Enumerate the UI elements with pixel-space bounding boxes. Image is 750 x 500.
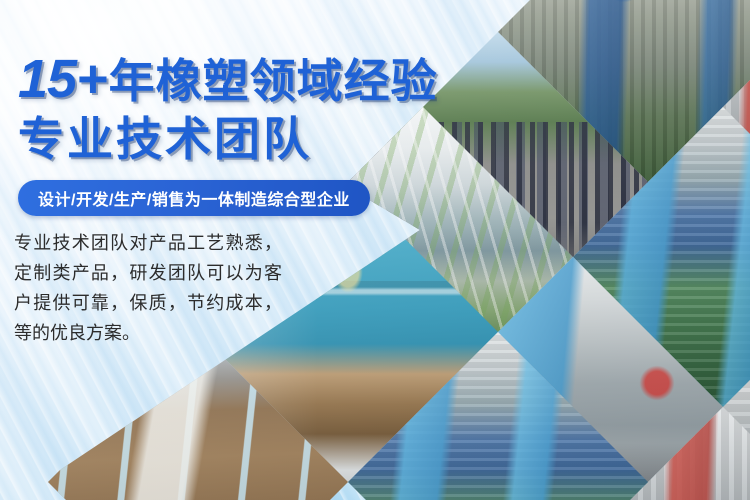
headline-primary: 15+年橡塑领域经验 [18, 52, 438, 108]
body-paragraph: 专业技术团队对产品工艺熟悉，定制类产品，研发团队可以为客户提供可靠，保质，节约成… [14, 228, 282, 348]
headline-primary-text: 年橡塑领域经验 [109, 55, 438, 107]
tagline-pill-label: 设计/开发/生产/销售为一体制造综合型企业 [38, 186, 350, 210]
headline-secondary: 专业技术团队 [18, 112, 312, 166]
company-profile-banner: 15+年橡塑领域经验 专业技术团队 设计/开发/生产/销售为一体制造综合型企业 … [0, 0, 750, 500]
tagline-pill-badge: 设计/开发/生产/销售为一体制造综合型企业 [18, 180, 370, 216]
headline-years-number: 15+ [18, 49, 109, 109]
